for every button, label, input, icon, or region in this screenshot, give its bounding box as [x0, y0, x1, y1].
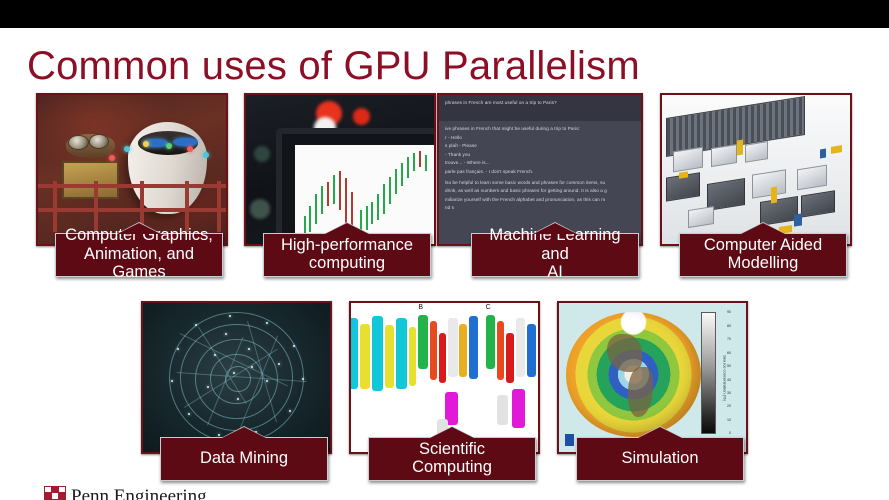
- colorbar: [701, 312, 716, 434]
- chat-user-text: phrases in French are most useful on a t…: [445, 100, 635, 105]
- caption-scientific-computing[interactable]: Scientific Computing: [368, 437, 536, 481]
- penn-engineering-logo: Penn Engineering: [44, 486, 207, 500]
- railing-bar: [38, 208, 226, 212]
- caption-text: Computer Aided Modelling: [704, 236, 822, 273]
- colorbar-tick: 80: [727, 324, 731, 328]
- railing-post: [94, 181, 98, 232]
- cad-crane: [737, 139, 743, 155]
- landmass: [628, 367, 652, 417]
- cad-unit: [752, 170, 786, 199]
- page-title: Common uses of GPU Parallelism: [27, 44, 640, 89]
- cad-worker: [820, 148, 826, 158]
- caption-line-2: Modelling: [728, 254, 799, 272]
- caption-data-mining[interactable]: Data Mining: [160, 437, 328, 481]
- railing-bar: [38, 184, 226, 188]
- ribbon-notch: [741, 223, 785, 234]
- bokeh-light: [353, 108, 370, 124]
- cad-crane: [771, 187, 777, 204]
- colorbar-label: Sea ice concentration (%): [722, 355, 727, 401]
- cad-vehicle: [831, 145, 842, 154]
- colorbar-tick: 50: [727, 364, 731, 368]
- penn-shield-icon: [44, 486, 66, 500]
- walle-body: [62, 161, 118, 200]
- colorbar-tick: 60: [727, 351, 731, 355]
- cad-unit: [797, 164, 827, 190]
- railing-post: [53, 181, 57, 232]
- chat-bot-item: s plaît - Please: [445, 143, 635, 148]
- light-bulb: [203, 152, 209, 158]
- chat-bot-item: parle pas français. - I don't speak Fren…: [445, 169, 635, 174]
- cad-unit: [688, 206, 714, 228]
- cad-unit: [745, 141, 768, 162]
- colorbar-tick: 0: [729, 431, 731, 435]
- logo-wordmark: Penn Engineering: [71, 487, 207, 500]
- bokeh-light: [250, 199, 271, 218]
- caption-text: Computer Graphics, Animation, and Games: [64, 226, 214, 281]
- legend-swatch: [565, 434, 574, 446]
- cad-worker: [794, 214, 802, 227]
- slide-canvas: Common uses of GPU Parallelism: [0, 0, 889, 500]
- panel-label-c: C: [486, 304, 491, 311]
- caption-line-2: AI: [547, 263, 563, 281]
- light-bulb: [166, 143, 172, 149]
- ribbon-notch: [222, 427, 266, 438]
- cad-unit: [673, 146, 703, 172]
- caption-text: Scientific Computing: [377, 440, 527, 477]
- colorbar-tick: 90: [727, 310, 731, 314]
- caption-text: High-performance computing: [281, 236, 413, 273]
- walle-eye-left: [68, 135, 89, 150]
- ribbon-notch: [325, 223, 369, 234]
- chat-bot-item: trouve... - Where is...: [445, 160, 635, 165]
- railing-post: [185, 181, 189, 232]
- chat-bot-item: r - Hello: [445, 135, 635, 140]
- caption-line-2: Animation, and Games: [84, 245, 194, 281]
- chat-bot-outro: lso be helpful to learn some basic words…: [445, 180, 635, 185]
- caption-computer-aided-modelling[interactable]: Computer Aided Modelling: [679, 233, 847, 277]
- caption-line-2: computing: [309, 254, 385, 272]
- bokeh-light: [254, 146, 271, 162]
- chat-bot-outro: drink, as well as numbers and basic phra…: [445, 188, 635, 193]
- chat-bot-item: - Thank you: [445, 152, 635, 157]
- ribbon-notch: [533, 223, 577, 234]
- walle-eye-right: [89, 134, 110, 149]
- ribbon-notch: [430, 427, 474, 438]
- light-bulb: [187, 146, 193, 152]
- caption-text: Data Mining: [200, 449, 288, 467]
- chat-bot-outro: nd s: [445, 205, 635, 210]
- caption-line-1: High-performance: [281, 236, 413, 254]
- cad-unit: [801, 191, 835, 219]
- chat-user-message: phrases in French are most useful on a t…: [439, 95, 641, 121]
- ribbon-notch: [117, 223, 161, 234]
- panel-label-b: B: [418, 304, 423, 311]
- colorbar-tick: 20: [727, 404, 731, 408]
- landmass: [607, 334, 642, 372]
- chat-bot-outro: miliarize yourself with the French alpha…: [445, 197, 635, 202]
- caption-machine-learning-ai[interactable]: Machine Learning and AI: [471, 233, 639, 277]
- caption-text: Machine Learning and AI: [480, 226, 630, 281]
- caption-high-performance-computing[interactable]: High-performance computing: [263, 233, 431, 277]
- colorbar-tick: 70: [727, 337, 731, 341]
- letterbox-top: [0, 0, 889, 28]
- caption-line-1: Computer Aided: [704, 236, 822, 254]
- colorbar-tick: 10: [727, 418, 731, 422]
- caption-simulation[interactable]: Simulation: [576, 437, 744, 481]
- globe: [566, 312, 701, 437]
- cad-unit: [711, 144, 737, 168]
- caption-computer-graphics[interactable]: Computer Graphics, Animation, and Games: [55, 233, 223, 277]
- chat-bot-intro: ive phrases in French that might be usef…: [445, 126, 635, 131]
- caption-text: Simulation: [621, 449, 698, 467]
- colorbar-tick: 40: [727, 378, 731, 382]
- colorbar-tick: 30: [727, 391, 731, 395]
- railing-post: [217, 181, 221, 232]
- ribbon-notch: [638, 427, 682, 438]
